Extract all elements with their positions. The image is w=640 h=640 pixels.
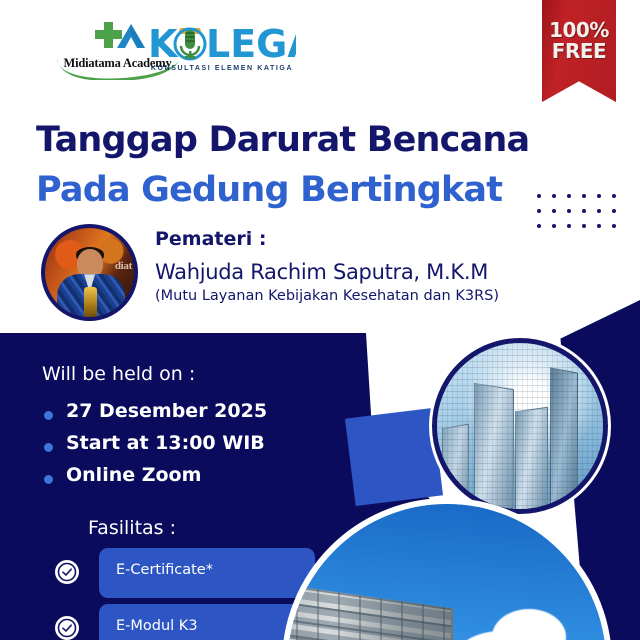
free-badge-ribbon: 100% FREE: [542, 0, 616, 102]
dot: [582, 209, 586, 213]
facilities-list: E-Certificate* E-Modul K3: [55, 548, 315, 640]
facility-label: E-Certificate*: [116, 562, 213, 578]
free-badge-text: 100% FREE: [542, 20, 616, 62]
logo-row: Midiatama Academy K LEGA: [0, 22, 340, 88]
list-item: Start at 13:00 WIB: [42, 432, 332, 464]
list-item: E-Certificate*: [55, 548, 315, 600]
poster-title-line1: Tanggap Darurat Bencana: [36, 120, 529, 160]
event-platform: Online Zoom: [66, 464, 201, 486]
facility-chip: E-Certificate*: [99, 548, 315, 598]
facility-label: E-Modul K3: [116, 618, 198, 634]
dot: [567, 194, 571, 198]
poster-title-line2: Pada Gedung Bertingkat: [36, 170, 502, 210]
dot: [567, 209, 571, 213]
check-circle-icon: [55, 616, 79, 640]
event-intro-label: Will be held on :: [42, 363, 195, 385]
dot: [567, 224, 571, 228]
dot-grid-decoration: [537, 194, 619, 232]
list-item: 27 Desember 2025: [42, 400, 332, 432]
dot: [582, 194, 586, 198]
kolega-tagline: KONSULTASI ELEMEN KATIGA: [148, 65, 296, 72]
dot: [537, 224, 541, 228]
blue-square-accent: [345, 408, 443, 506]
dot: [537, 194, 541, 198]
check-circle-icon: [55, 560, 79, 584]
bullet-icon: [44, 411, 53, 420]
free-badge-percent: 100%: [542, 20, 616, 41]
speaker-role: (Mutu Layanan Kebijakan Kesehatan dan K3…: [155, 288, 499, 304]
event-time: Start at 13:00 WIB: [66, 432, 265, 454]
dot: [552, 224, 556, 228]
speaker-photo-trophy: [84, 287, 97, 317]
speaker-name: Wahjuda Rachim Saputra, M.K.M: [155, 260, 488, 284]
list-item: E-Modul K3: [55, 604, 315, 640]
dot: [537, 209, 541, 213]
kolega-logo: K LEGA KONSULTASI ELEMEN KATIGA: [148, 22, 296, 84]
microphone-icon: [175, 28, 205, 59]
dot: [597, 209, 601, 213]
bullet-icon: [44, 475, 53, 484]
kolega-wordmark-icon: K LEGA: [148, 22, 296, 66]
event-details-list: 27 Desember 2025 Start at 13:00 WIB Onli…: [42, 400, 332, 496]
event-date: 27 Desember 2025: [66, 400, 267, 422]
dot: [612, 194, 616, 198]
speaker-avatar: diat: [41, 224, 138, 321]
speaker-label: Pemateri :: [155, 228, 267, 250]
dot: [552, 194, 556, 198]
skyscraper-windows: [437, 343, 603, 509]
dot: [597, 224, 601, 228]
skyscrapers-photo: [432, 338, 608, 514]
highrise-building-photo: [282, 498, 612, 640]
dot: [597, 194, 601, 198]
speaker-photo-backdrop-text: diat: [115, 260, 132, 272]
midiatama-mark-icon: [81, 22, 155, 56]
dot: [582, 224, 586, 228]
list-item: Online Zoom: [42, 464, 332, 496]
dot: [612, 224, 616, 228]
dot: [612, 209, 616, 213]
facility-chip: E-Modul K3: [99, 604, 315, 640]
dot: [552, 209, 556, 213]
facilities-title: Fasilitas :: [88, 517, 176, 539]
webinar-poster: Midiatama Academy K LEGA: [0, 0, 640, 640]
bullet-icon: [44, 443, 53, 452]
svg-text:LEGA: LEGA: [206, 22, 296, 66]
free-badge-free: FREE: [542, 41, 616, 62]
